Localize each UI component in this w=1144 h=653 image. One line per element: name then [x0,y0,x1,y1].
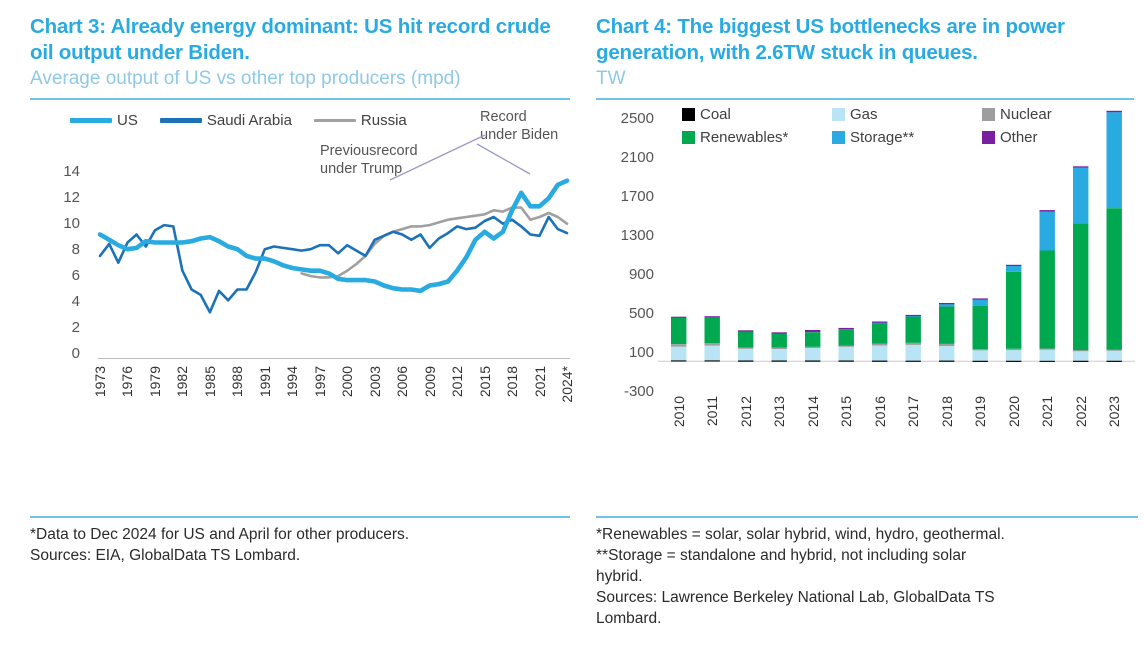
chart4-footnote-line5: Lombard. [596,608,1138,629]
bar-segment-2017-coal [906,361,921,362]
chart4-bars-svg [596,100,1136,410]
bar-segment-2017-nuclear [906,343,921,345]
bar-segment-2010-gas [671,347,686,361]
bar-segment-2021-other [1040,210,1055,211]
chart3-subtitle: Average output of US vs other top produc… [30,66,570,92]
bar-segment-2016-renewables [872,323,887,344]
chart4-subtitle: TW [596,66,1134,92]
bar-segment-2023-other [1107,111,1122,112]
chart4-footnote-block: *Renewables = solar, solar hybrid, wind,… [596,516,1138,629]
bar-segment-2018-other [939,303,954,304]
chart3-xtick-1973: 1973 [92,366,108,397]
bar-segment-2020-gas [1006,349,1021,360]
chart4-xtick-2013: 2013 [771,396,787,427]
leader-line-previous-record [390,135,485,180]
chart3-title: Chart 3: Already energy dominant: US hit… [30,14,570,66]
chart3-xtick-2012: 2012 [449,366,465,397]
chart3-xtick-2018: 2018 [504,366,520,397]
bar-segment-2016-nuclear [872,344,887,346]
chart4-xtick-2017: 2017 [905,396,921,427]
bar-segment-2020-other [1006,265,1021,266]
chart4-xtick-2014: 2014 [805,396,821,427]
bar-segment-2021-gas [1040,349,1055,361]
chart3-lines-svg [30,100,575,370]
bar-segment-2019-renewables [973,305,988,349]
bar-segment-2014-gas [805,348,820,361]
chart3-xtick-1991: 1991 [257,366,273,397]
chart3-xtick-2024: 2024* [559,366,575,403]
bar-segment-2019-other [973,298,988,299]
bar-segment-2012-nuclear [738,348,753,349]
chart3-xtick-2021: 2021 [532,366,548,397]
chart3-xtick-1982: 1982 [174,366,190,397]
chart4-footnote-line1: *Renewables = solar, solar hybrid, wind,… [596,524,1138,545]
chart4-xtick-2011: 2011 [704,396,720,426]
two-chart-page: Chart 3: Already energy dominant: US hit… [0,0,1144,653]
bar-segment-2010-renewables [671,318,686,344]
bar-segment-2016-coal [872,361,887,362]
chart3-footnote-block: *Data to Dec 2024 for US and April for o… [30,516,570,566]
bar-segment-2022-gas [1073,350,1088,360]
bar-segment-2022-storage [1073,168,1088,224]
chart3-xtick-1979: 1979 [147,366,163,397]
bar-segment-2010-nuclear [671,344,686,346]
chart3-series-saudi-arabia [100,217,567,312]
chart3-footnote-line1: *Data to Dec 2024 for US and April for o… [30,524,570,545]
bar-segment-2023-storage [1107,112,1122,208]
chart3-xtick-1976: 1976 [119,366,135,397]
bar-segment-2023-coal [1107,361,1122,362]
chart3-panel: Chart 3: Already energy dominant: US hit… [0,0,588,653]
bar-segment-2013-other [772,332,787,333]
chart3-xtick-1985: 1985 [202,366,218,397]
chart4-xtick-2012: 2012 [738,396,754,427]
chart4-xtick-2020: 2020 [1006,396,1022,427]
bar-segment-2018-renewables [939,306,954,344]
bar-segment-2016-other [872,322,887,323]
bar-segment-2022-renewables [1073,223,1088,350]
bar-segment-2017-renewables [906,317,921,343]
bar-segment-2011-nuclear [705,343,720,345]
bar-segment-2020-nuclear [1006,349,1021,350]
chart3-xtick-2000: 2000 [339,366,355,397]
bar-segment-2021-storage [1040,212,1055,251]
bar-segment-2020-renewables [1006,272,1021,349]
bar-segment-2010-coal [671,360,686,361]
bar-segment-2015-nuclear [839,346,854,347]
bar-segment-2022-coal [1073,361,1088,362]
chart3-plot-area: US Saudi Arabia Russia Record under Bide… [30,100,575,470]
bar-segment-2017-gas [906,345,921,361]
bar-segment-2020-storage [1006,266,1021,272]
chart3-xtick-2003: 2003 [367,366,383,397]
bar-segment-2012-coal [738,361,753,362]
bar-segment-2013-nuclear [772,348,787,349]
bar-segment-2021-renewables [1040,251,1055,349]
bar-segment-2015-renewables [839,329,854,346]
bar-segment-2016-gas [872,345,887,360]
bar-segment-2014-nuclear [805,347,820,348]
bar-segment-2014-renewables [805,332,820,347]
bar-segment-2018-gas [939,346,954,361]
bar-segment-2013-gas [772,349,787,361]
bar-segment-2010-other [671,317,686,318]
bar-segment-2019-nuclear [973,349,988,350]
bar-segment-2011-renewables [705,317,720,343]
bar-segment-2013-renewables [772,334,787,348]
bar-segment-2015-coal [839,361,854,362]
chart4-title: Chart 4: The biggest US bottlenecks are … [596,14,1134,66]
bar-segment-2021-coal [1040,361,1055,362]
chart4-xtick-2021: 2021 [1039,396,1055,427]
bar-segment-2023-gas [1107,350,1122,361]
bar-segment-2013-coal [772,361,787,362]
bar-segment-2014-coal [805,361,820,362]
bar-segment-2019-gas [973,350,988,361]
bar-segment-2015-gas [839,347,854,361]
bar-segment-2012-other [738,330,753,331]
chart4-xtick-2018: 2018 [939,396,955,427]
bar-segment-2020-coal [1006,361,1021,362]
bar-segment-2015-other [839,328,854,329]
bar-segment-2011-other [705,316,720,317]
chart4-footnote-line4: Sources: Lawrence Berkeley National Lab,… [596,587,1138,608]
bar-segment-2018-storage [939,304,954,306]
chart4-footnote-line3: hybrid. [596,566,1138,587]
bar-segment-2021-nuclear [1040,349,1055,350]
bar-segment-2011-coal [705,360,720,361]
chart4-footnote-line2: **Storage = standalone and hybrid, not i… [596,545,1138,566]
bar-segment-2012-gas [738,349,753,361]
chart4-footnote-rule [596,516,1138,518]
chart3-series-us [100,181,567,291]
chart3-xtick-1997: 1997 [312,366,328,397]
bar-segment-2018-coal [939,361,954,362]
bar-segment-2011-gas [705,346,720,361]
chart4-panel: Chart 4: The biggest US bottlenecks are … [588,0,1144,653]
bar-segment-2022-nuclear [1073,350,1088,351]
chart3-footnote-line2: Sources: EIA, GlobalData TS Lombard. [30,545,570,566]
chart3-xtick-2009: 2009 [422,366,438,397]
chart4-xtick-2015: 2015 [838,396,854,427]
leader-line-record-under-biden [477,144,530,174]
bar-segment-2019-coal [973,361,988,362]
chart4-xtick-2022: 2022 [1073,396,1089,427]
bar-segment-2022-other [1073,166,1088,167]
chart4-xtick-2010: 2010 [671,396,687,427]
chart4-plot-area: Coal Gas Nuclear Renewables* Storage** [596,100,1136,472]
bar-segment-2017-other [906,315,921,316]
bar-segment-2012-renewables [738,332,753,348]
bar-segment-2018-nuclear [939,344,954,346]
bar-segment-2023-nuclear [1107,350,1122,351]
chart3-xtick-1988: 1988 [229,366,245,397]
bar-segment-2019-storage [973,299,988,305]
bar-segment-2014-other [805,330,820,332]
chart4-xtick-2019: 2019 [972,396,988,427]
chart4-xtick-2016: 2016 [872,396,888,427]
chart4-xtick-2023: 2023 [1106,396,1122,427]
chart3-xtick-2015: 2015 [477,366,493,397]
bar-segment-2023-renewables [1107,208,1122,349]
chart3-xtick-1994: 1994 [284,366,300,397]
chart3-footnote-rule [30,516,570,518]
chart3-xtick-2006: 2006 [394,366,410,397]
